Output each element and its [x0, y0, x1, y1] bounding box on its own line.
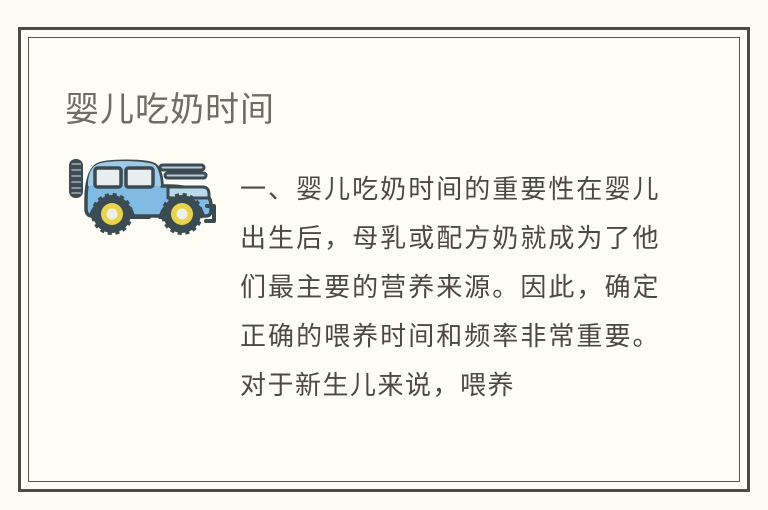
- rear-rack-shape: [160, 165, 206, 178]
- jeep-rear-window: [126, 168, 153, 187]
- article-page: 婴儿吃奶时间: [0, 0, 768, 510]
- jeep-rear-wheel: [93, 195, 131, 233]
- page-title: 婴儿吃奶时间: [65, 89, 275, 131]
- jeep-front-wheel: [163, 195, 201, 233]
- jeep-front-window: [95, 168, 121, 187]
- inner-border-frame: 婴儿吃奶时间: [28, 37, 740, 482]
- article-body-text: 一、婴儿吃奶时间的重要性在婴儿出生后，母乳或配方奶就成为了他们最主要的营养来源。…: [240, 166, 660, 411]
- blue-jeep-illustration: [62, 150, 222, 236]
- jeep-icon: [62, 150, 222, 236]
- outer-border-frame: 婴儿吃奶时间: [18, 27, 750, 492]
- page-content: 婴儿吃奶时间: [29, 38, 739, 481]
- spare-tire-shape: [69, 159, 83, 198]
